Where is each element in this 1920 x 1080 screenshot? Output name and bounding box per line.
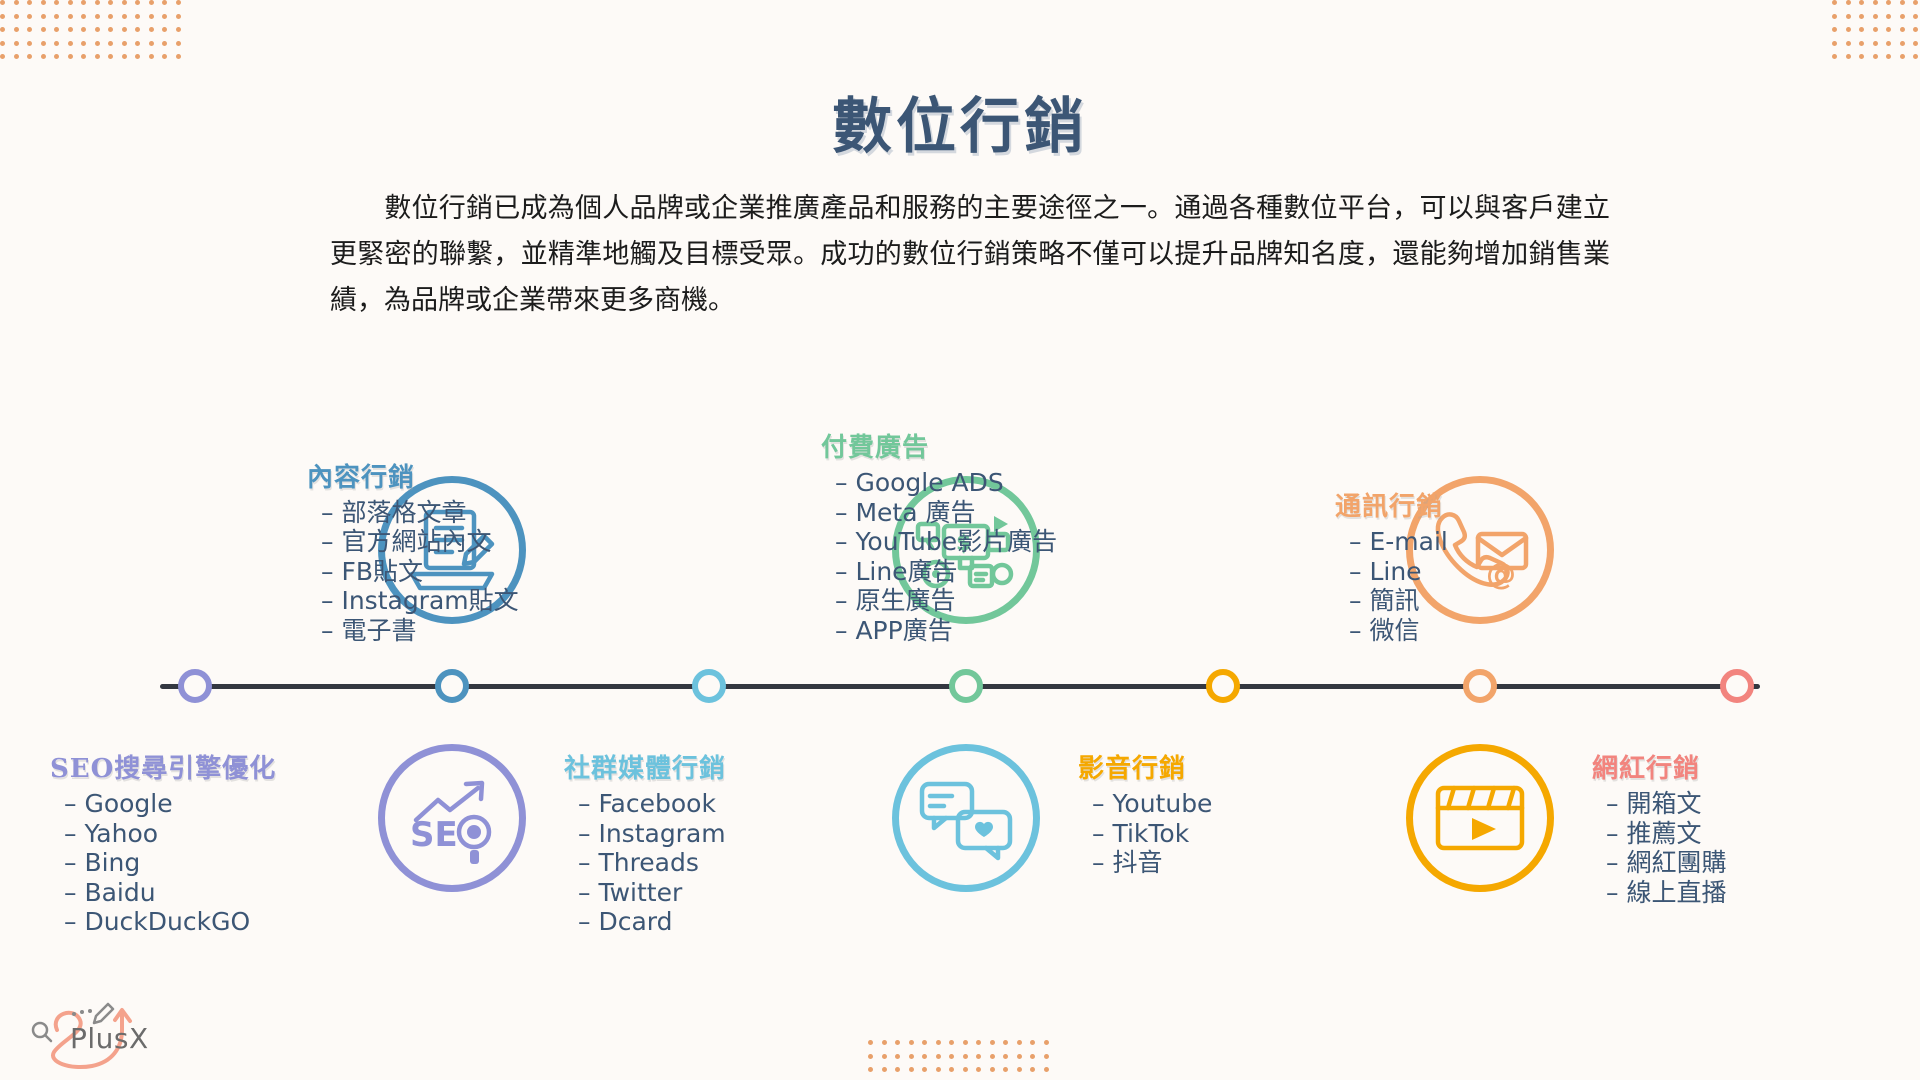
channel-heading-video: 影音行銷 (1078, 748, 1378, 785)
list-item: APP廣告 (835, 616, 1121, 646)
list-item: 官方網站內文 (321, 527, 607, 557)
list-item: Line (1349, 557, 1635, 587)
timeline-node-messaging[interactable] (1463, 669, 1497, 703)
map-pin-social[interactable] (892, 714, 1040, 892)
list-item: 部落格文章 (321, 498, 607, 528)
list-item: Google (64, 789, 350, 819)
list-item: 推薦文 (1606, 819, 1892, 849)
map-pin-seo[interactable]: SE (378, 714, 526, 892)
list-item: Instagram (578, 819, 864, 849)
list-item: YouTube影片廣告 (835, 527, 1121, 557)
list-item: Dcard (578, 907, 864, 937)
list-item: Facebook (578, 789, 864, 819)
dot-grid-bottom-center-decoration (868, 1040, 1058, 1080)
list-item: Baidu (64, 878, 350, 908)
list-item: 微信 (1349, 616, 1635, 646)
channel-list-paidads: Google ADSMeta 廣告YouTube影片廣告Line廣告原生廣告AP… (821, 468, 1121, 645)
channel-block-seo: SEO搜尋引擎優化GoogleYahooBingBaiduDuckDuckGO (50, 748, 350, 937)
list-item: 電子書 (321, 616, 607, 646)
channel-block-paidads: 付費廣告Google ADSMeta 廣告YouTube影片廣告Line廣告原生… (821, 427, 1121, 645)
list-item: 網紅團購 (1606, 848, 1892, 878)
timeline-node-influencer[interactable] (1720, 669, 1754, 703)
chat-bubbles-icon (892, 744, 1040, 892)
list-item: Youtube (1092, 789, 1378, 819)
channel-block-content: 內容行銷部落格文章官方網站內文FB貼文Instagram貼文電子書 (307, 457, 607, 646)
list-item: DuckDuckGO (64, 907, 350, 937)
list-item: 開箱文 (1606, 789, 1892, 819)
channel-list-video: YoutubeTikTok抖音 (1078, 789, 1378, 878)
channel-heading-influencer: 網紅行銷 (1592, 748, 1892, 785)
intro-paragraph: 數位行銷已成為個人品牌或企業推廣產品和服務的主要途徑之一。通過各種數位平台，可以… (330, 186, 1610, 324)
list-item: Yahoo (64, 819, 350, 849)
channel-list-social: FacebookInstagramThreadsTwitterDcard (564, 789, 864, 937)
channel-list-seo: GoogleYahooBingBaiduDuckDuckGO (50, 789, 350, 937)
channel-list-messaging: E-mailLine簡訊微信 (1335, 527, 1635, 645)
channel-list-content: 部落格文章官方網站內文FB貼文Instagram貼文電子書 (307, 498, 607, 646)
list-item: Instagram貼文 (321, 586, 607, 616)
timeline-node-social[interactable] (692, 669, 726, 703)
page-title: 數位行銷 (0, 78, 1920, 165)
list-item: FB貼文 (321, 557, 607, 587)
channel-list-influencer: 開箱文推薦文網紅團購線上直播 (1592, 789, 1892, 907)
list-item: Google ADS (835, 468, 1121, 498)
list-item: Line廣告 (835, 557, 1121, 587)
list-item: 線上直播 (1606, 878, 1892, 908)
video-play-clapper-icon (1406, 744, 1554, 892)
channel-block-social: 社群媒體行銷FacebookInstagramThreadsTwitterDca… (564, 748, 864, 937)
channel-heading-seo: SEO搜尋引擎優化 (50, 748, 350, 785)
list-item: Bing (64, 848, 350, 878)
channel-heading-social: 社群媒體行銷 (564, 748, 864, 785)
channel-block-video: 影音行銷YoutubeTikTok抖音 (1078, 748, 1378, 878)
channel-heading-content: 內容行銷 (307, 457, 607, 494)
channel-heading-paidads: 付費廣告 (821, 427, 1121, 464)
timeline-node-paidads[interactable] (949, 669, 983, 703)
infographic-canvas: 數位行銷 數位行銷已成為個人品牌或企業推廣產品和服務的主要途徑之一。通過各種數位… (0, 0, 1920, 1080)
list-item: 簡訊 (1349, 586, 1635, 616)
list-item: E-mail (1349, 527, 1635, 557)
list-item: TikTok (1092, 819, 1378, 849)
channel-heading-messaging: 通訊行銷 (1335, 486, 1635, 523)
list-item: Twitter (578, 878, 864, 908)
channel-block-messaging: 通訊行銷E-mailLine簡訊微信 (1335, 486, 1635, 645)
list-item: Meta 廣告 (835, 498, 1121, 528)
map-pin-video[interactable] (1406, 714, 1554, 892)
channel-block-influencer: 網紅行銷開箱文推薦文網紅團購線上直播 (1592, 748, 1892, 907)
seo-chart-magnifier-icon: SE (378, 744, 526, 892)
logo-wordmark: PlusX (70, 1022, 149, 1055)
timeline-node-video[interactable] (1206, 669, 1240, 703)
timeline-node-seo[interactable] (178, 669, 212, 703)
list-item: 抖音 (1092, 848, 1378, 878)
timeline-node-content[interactable] (435, 669, 469, 703)
dot-grid-top-left-decoration (0, 0, 190, 66)
list-item: 原生廣告 (835, 586, 1121, 616)
dot-grid-top-right-decoration (1832, 0, 1920, 66)
intro-line-1: 數位行銷已成為個人品牌或企業推廣產品和服務的主要途徑之一。通過各種數位 (384, 193, 1338, 224)
list-item: Threads (578, 848, 864, 878)
plusx-logo: PlusX (22, 1000, 172, 1070)
svg-text:SE: SE (410, 815, 458, 855)
